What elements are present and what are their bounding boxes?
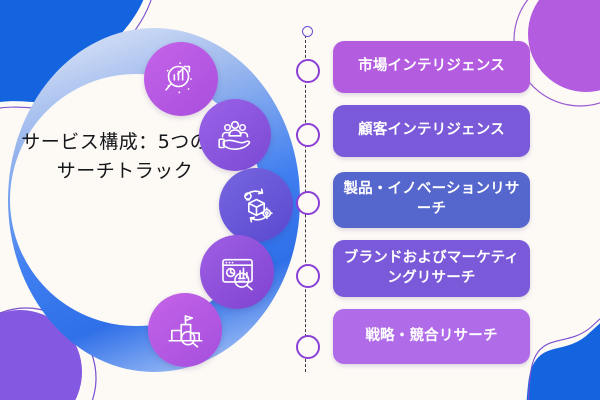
track-pill-2[interactable]: 顧客インテリジェンス: [333, 105, 530, 157]
dashboard-window-magnifier-icon: [217, 252, 258, 293]
track-icon-1[interactable]: [144, 42, 218, 116]
timeline-start-cap: [302, 26, 313, 37]
track-icon-3[interactable]: [219, 168, 293, 242]
timeline-marker-5[interactable]: [296, 335, 320, 359]
track-label-3: 製品・イノベーションリサーチ: [342, 180, 521, 219]
timeline: [305, 30, 307, 372]
product-box-innovation-gear-icon: [236, 185, 277, 226]
timeline-marker-1[interactable]: [296, 59, 320, 83]
track-pill-4[interactable]: ブランドおよびマーケティングリサーチ: [333, 240, 530, 297]
bottom-right-blob: [520, 299, 600, 400]
podium-flag-magnifier-icon: [165, 310, 206, 351]
track-label-1: 市場インテリジェンス: [358, 57, 505, 77]
track-pill-1[interactable]: 市場インテリジェンス: [333, 41, 530, 93]
top-right-circle: [528, 0, 600, 92]
timeline-marker-2[interactable]: [296, 123, 320, 147]
magnifier-bar-chart-growth-icon: [161, 59, 201, 99]
track-pill-5[interactable]: 戦略・競合リサーチ: [333, 309, 530, 364]
track-label-5: 戦略・競合リサーチ: [365, 327, 497, 347]
track-icon-2[interactable]: [199, 99, 271, 171]
track-icon-4[interactable]: [200, 235, 274, 309]
timeline-marker-4[interactable]: [296, 264, 320, 288]
timeline-marker-3[interactable]: [296, 191, 320, 215]
track-icon-5[interactable]: [148, 293, 222, 367]
track-label-4: ブランドおよびマーケティングリサーチ: [342, 249, 521, 288]
track-pill-3[interactable]: 製品・イノベーションリサーチ: [333, 172, 530, 228]
hand-holding-people-icon: [215, 115, 255, 155]
track-label-2: 顧客インテリジェンス: [358, 121, 505, 141]
infographic-canvas: サービス構成：5つのリサーチトラック: [0, 0, 600, 400]
